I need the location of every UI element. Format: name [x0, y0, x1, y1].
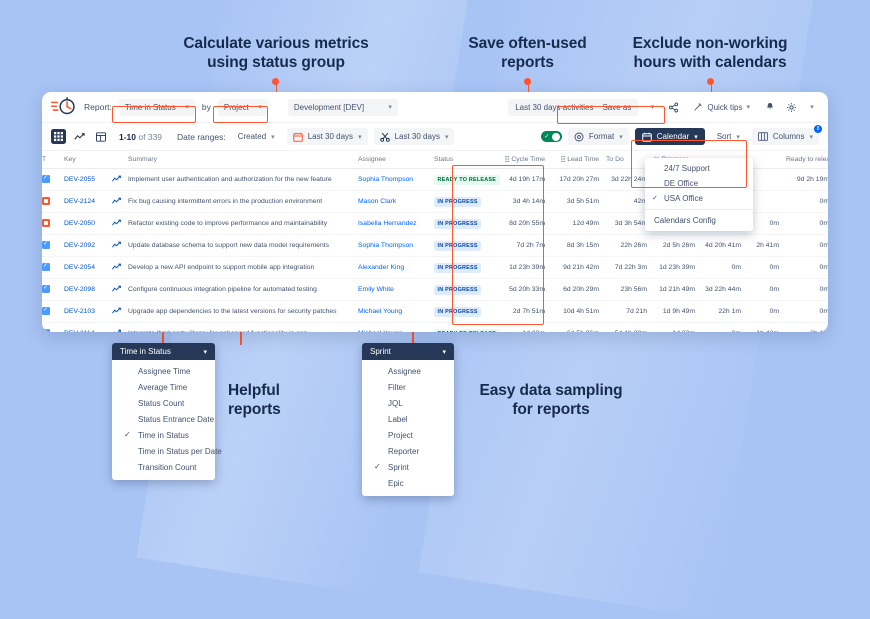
row-ready-to-release: 9d 2h 19m: [786, 169, 828, 191]
report-menu-item-2[interactable]: Status Count: [112, 395, 215, 411]
sprint-menu-item-5[interactable]: Reporter: [362, 443, 454, 459]
app-logo-icon: [51, 97, 77, 117]
row-sparkline-icon[interactable]: [112, 323, 128, 333]
chevron-down-icon: ▾: [185, 103, 189, 111]
table-row[interactable]: DEV-2092Update database schema to suppor…: [42, 235, 828, 257]
issue-type-icon: [42, 175, 50, 183]
row-ready-to-release: 0m: [786, 257, 828, 279]
row-in-progress: 1d 23h 39m: [654, 257, 702, 279]
row-sparkline-icon[interactable]: [112, 235, 128, 257]
chevron-down-icon: ▾: [388, 103, 392, 111]
row-type-checkbox[interactable]: [42, 323, 64, 333]
report-menu-item-1[interactable]: Average Time: [112, 379, 215, 395]
row-cycle-time: 4d 19h 17m: [500, 169, 552, 191]
chart-view-icon[interactable]: [72, 129, 87, 144]
calendar-menu-item-1[interactable]: DE Office: [645, 176, 753, 191]
issue-type-icon: [42, 197, 50, 205]
report-type-menu-title: Time in Status: [120, 347, 171, 356]
row-summary[interactable]: Implement user authentication and author…: [128, 169, 358, 191]
sort-icon: [561, 156, 566, 162]
row-lead-time: 9d 21h 42m: [552, 257, 606, 279]
row-todo: 22h 26m: [606, 235, 654, 257]
row-sparkline-icon[interactable]: [112, 279, 128, 301]
sampling-menu[interactable]: Sprint ▾ AssigneeFilterJQLLabelProjectRe…: [362, 343, 454, 496]
sprint-menu-item-6[interactable]: ✓Sprint: [362, 459, 454, 475]
col-summary[interactable]: Summary: [128, 151, 358, 169]
date-range-2-select[interactable]: Last 30 days ▾: [374, 128, 455, 145]
calendar-icon: [642, 132, 652, 142]
scissors-icon: [380, 132, 390, 142]
working-hours-toggle[interactable]: ✓: [541, 131, 562, 142]
date-field-value: Created: [238, 132, 266, 141]
board-view-icon[interactable]: [93, 129, 108, 144]
check-icon: ✓: [652, 194, 658, 202]
result-count-total: of 339: [138, 132, 162, 142]
by-label: by: [202, 102, 211, 112]
sprint-menu-item-3[interactable]: Label: [362, 411, 454, 427]
row-lead-time: 10d 4h 51m: [552, 301, 606, 323]
calendar-dropdown-menu[interactable]: 24/7 Support DE Office ✓ USA Office Cale…: [645, 158, 753, 231]
sprint-menu-item-0[interactable]: Assignee: [362, 363, 454, 379]
row-summary[interactable]: Configure continuous integration pipelin…: [128, 279, 358, 301]
row-todo: 23h 56m: [606, 279, 654, 301]
chevron-down-icon: ▾: [358, 133, 362, 141]
chevron-down-icon: ▾: [258, 103, 262, 111]
row-assignee[interactable]: Sophia Thompson: [358, 169, 434, 191]
row-assignee[interactable]: Emily White: [358, 279, 434, 301]
row-hidden-2: [748, 169, 786, 191]
calendar-menu-item-0[interactable]: 24/7 Support: [645, 161, 753, 176]
col-spark: [112, 151, 128, 169]
row-assignee[interactable]: Michael Young: [358, 301, 434, 323]
project-value: Development [DEV]: [294, 103, 364, 112]
row-lead-time: 12d 49m: [552, 213, 606, 235]
row-status: IN PROGRESS: [434, 213, 500, 235]
chevron-down-icon: ▾: [445, 133, 449, 141]
save-as-button[interactable]: Save as: [602, 103, 631, 112]
row-lead-time: 8d 3h 15m: [552, 235, 606, 257]
row-lead-time: 17d 20h 27m: [552, 169, 606, 191]
report-type-value: Time in Status: [125, 103, 176, 112]
sort-icon: [505, 156, 510, 162]
sprint-menu-item-7[interactable]: Epic: [362, 475, 454, 491]
sampling-menu-header[interactable]: Sprint ▾: [362, 343, 454, 360]
saved-filter-caret[interactable]: ▾: [645, 99, 659, 116]
sprint-menu-item-4[interactable]: Project: [362, 427, 454, 443]
row-hidden-2: 2h 41m: [748, 235, 786, 257]
row-key[interactable]: DEV-2114: [64, 323, 112, 333]
saved-filter-chip[interactable]: Last 30 days activities Save as: [508, 99, 638, 116]
row-lead-time: 3d 5h 51m: [552, 191, 606, 213]
bell-icon[interactable]: [763, 99, 777, 116]
chevron-down-icon: ▾: [271, 133, 275, 141]
row-hidden-2: 0m: [748, 301, 786, 323]
col-lead-time[interactable]: Lead Time: [552, 151, 606, 169]
sprint-menu-item-1[interactable]: Filter: [362, 379, 454, 395]
grid-view-icon[interactable]: [51, 129, 66, 144]
chevron-down-icon: ▾: [809, 133, 813, 141]
chevron-down-icon: ▾: [619, 133, 623, 141]
calendar-menu-item-2[interactable]: ✓ USA Office: [645, 191, 753, 206]
row-hidden-2: 0m: [748, 257, 786, 279]
row-sparkline-icon[interactable]: [112, 301, 128, 323]
chevron-down-icon: ▾: [736, 133, 740, 141]
report-menu-item-3[interactable]: Status Entrance Date: [112, 411, 215, 427]
row-key[interactable]: DEV-2098: [64, 279, 112, 301]
row-ready-to-release: 0m: [786, 191, 828, 213]
report-menu-item-4[interactable]: ✓Time in Status: [112, 427, 215, 443]
row-hidden-1: 0m: [702, 257, 748, 279]
date-ranges-label: Date ranges:: [177, 132, 226, 142]
caption-easy-sampling: Easy data sampling for reports: [466, 381, 636, 419]
report-menu-item-5[interactable]: Time in Status per Date: [112, 443, 215, 459]
columns-label: Columns: [773, 132, 805, 141]
result-count-range: 1-10: [119, 132, 136, 142]
row-status: IN PROGRESS: [434, 257, 500, 279]
calendar-icon: [293, 132, 303, 142]
caption-exclude-hours: Exclude non-working hours with calendars: [614, 34, 806, 72]
row-type-checkbox[interactable]: [42, 279, 64, 301]
col-status[interactable]: Status: [434, 151, 500, 169]
row-lead-time: 6d 20h 29m: [552, 279, 606, 301]
format-button[interactable]: Format ▾: [568, 128, 629, 145]
row-type-checkbox[interactable]: [42, 213, 64, 235]
chevron-down-icon: ▾: [694, 133, 698, 141]
row-todo: 5d 1h 28m: [606, 323, 654, 333]
row-hidden-2: 0m: [748, 213, 786, 235]
date-range-2-value: Last 30 days: [395, 132, 440, 141]
row-ready-to-release: 0m: [786, 213, 828, 235]
col-key[interactable]: Key: [64, 151, 112, 169]
group-by-select[interactable]: Project ▾: [218, 99, 268, 116]
row-status: IN PROGRESS: [434, 235, 500, 257]
row-in-progress: 2d 5h 26m: [654, 235, 702, 257]
chevron-down-icon: ▾: [203, 348, 207, 356]
row-todo: 7d 22h 3m: [606, 257, 654, 279]
row-cycle-time: 7d 2h 7m: [500, 235, 552, 257]
row-key[interactable]: DEV-2103: [64, 301, 112, 323]
row-key[interactable]: DEV-2092: [64, 235, 112, 257]
row-hidden-2: 0m: [748, 279, 786, 301]
report-type-menu-header[interactable]: Time in Status ▾: [112, 343, 215, 360]
report-type-menu[interactable]: Time in Status ▾ Assignee TimeAverage Ti…: [112, 343, 215, 480]
result-count: 1-10 of 339: [119, 132, 162, 142]
columns-badge: 8: [814, 125, 822, 133]
magic-wand-icon: [693, 102, 703, 112]
row-status: READY TO RELEASE: [434, 323, 500, 333]
row-hidden-1: 4d 20h 41m: [702, 235, 748, 257]
toolbar-primary: Report: Time in Status ▾ by Project ▾ De…: [42, 92, 828, 123]
row-in-progress: 1d 21h 49m: [654, 279, 702, 301]
row-hidden-2: 1h 42m: [748, 323, 786, 333]
row-hidden-1: 3d 22h 44m: [702, 279, 748, 301]
row-summary[interactable]: Develop a new API endpoint to support mo…: [128, 257, 358, 279]
row-cycle-time: 5d 20h 33m: [500, 279, 552, 301]
toggle-check-icon: ✓: [544, 134, 549, 140]
toolbar-secondary: 1-10 of 339 Date ranges: Created ▾ Last …: [42, 123, 828, 151]
row-lead-time: 6d 5h 36m: [552, 323, 606, 333]
issue-type-icon: [42, 219, 50, 227]
col-ready-to-release[interactable]: Ready to release: [786, 151, 828, 169]
row-assignee[interactable]: Alexander King: [358, 257, 434, 279]
row-type-checkbox[interactable]: [42, 169, 64, 191]
row-sparkline-icon[interactable]: [112, 213, 128, 235]
caption-calculate-metrics: Calculate various metrics using status g…: [178, 34, 374, 72]
row-cycle-time: 2d 7h 51m: [500, 301, 552, 323]
row-type-checkbox[interactable]: [42, 301, 64, 323]
chevron-down-icon: ▾: [746, 103, 750, 111]
row-todo: 7d 21h: [606, 301, 654, 323]
sort-button[interactable]: Sort ▾: [711, 128, 746, 145]
row-summary[interactable]: Fix bug causing intermittent errors in t…: [128, 191, 358, 213]
check-icon: ✓: [374, 462, 381, 471]
row-cycle-time: 8d 20h 55m: [500, 213, 552, 235]
row-ready-to-release: 0m: [786, 235, 828, 257]
sampling-menu-title: Sprint: [370, 347, 391, 356]
col-type[interactable]: T: [42, 151, 64, 169]
row-summary[interactable]: Integrate third-party library for enhanc…: [128, 323, 358, 333]
settings-caret[interactable]: ▾: [805, 99, 819, 116]
date-field-select[interactable]: Created ▾: [232, 128, 281, 145]
format-label: Format: [589, 132, 614, 141]
row-assignee[interactable]: Mason Clark: [358, 191, 434, 213]
row-assignee[interactable]: Isabella Hernandez: [358, 213, 434, 235]
row-key[interactable]: DEV-2050: [64, 213, 112, 235]
row-assignee[interactable]: Sophia Thompson: [358, 235, 434, 257]
table-row[interactable]: DEV-2103Upgrade app dependencies to the …: [42, 301, 828, 323]
columns-button[interactable]: Columns ▾ 8: [752, 128, 819, 145]
group-by-value: Project: [224, 103, 249, 112]
report-menu-item-0[interactable]: Assignee Time: [112, 363, 215, 379]
check-icon: ✓: [124, 430, 131, 439]
report-type-menu-items: Assignee TimeAverage TimeStatus CountSta…: [112, 360, 215, 480]
row-hidden-1: 22h 1m: [702, 301, 748, 323]
row-summary[interactable]: Refactor existing code to improve perfor…: [128, 213, 358, 235]
col-cycle-time[interactable]: Cycle Time: [500, 151, 552, 169]
gear-icon[interactable]: [784, 99, 798, 116]
date-range-1-value: Last 30 days: [308, 132, 353, 141]
row-ready-to-release: 0m: [786, 279, 828, 301]
report-menu-item-6[interactable]: Transition Count: [112, 459, 215, 475]
row-hidden-1: 0m: [702, 323, 748, 333]
row-cycle-time: 1d 23m: [500, 323, 552, 333]
row-summary[interactable]: Update database schema to support new da…: [128, 235, 358, 257]
quick-tips-button[interactable]: Quick tips ▾: [687, 99, 756, 116]
calendar-button[interactable]: Calendar ▾: [635, 128, 705, 145]
row-in-progress: 1d 23m: [654, 323, 702, 333]
report-label: Report:: [84, 102, 112, 112]
row-in-progress: 1d 9h 49m: [654, 301, 702, 323]
quick-tips-label: Quick tips: [707, 103, 742, 112]
share-icon[interactable]: [666, 99, 680, 116]
row-type-checkbox[interactable]: [42, 235, 64, 257]
row-cycle-time: 3d 4h 14m: [500, 191, 552, 213]
row-type-checkbox[interactable]: [42, 257, 64, 279]
row-ready-to-release: 0m: [786, 301, 828, 323]
date-range-1-select[interactable]: Last 30 days ▾: [287, 128, 368, 145]
row-sparkline-icon[interactable]: [112, 257, 128, 279]
table-row[interactable]: DEV-2054Develop a new API endpoint to su…: [42, 257, 828, 279]
row-cycle-time: 1d 23h 39m: [500, 257, 552, 279]
calendar-label: Calendar: [657, 132, 689, 141]
row-status: IN PROGRESS: [434, 301, 500, 323]
row-key[interactable]: DEV-2124: [64, 191, 112, 213]
row-key[interactable]: DEV-2055: [64, 169, 112, 191]
col-assignee[interactable]: Assignee: [358, 151, 434, 169]
sprint-menu-item-2[interactable]: JQL: [362, 395, 454, 411]
project-select[interactable]: Development [DEV] ▾: [288, 99, 398, 116]
row-ready-to-release: 2h 1m: [786, 323, 828, 333]
row-hidden-2: [748, 191, 786, 213]
issue-type-icon: [42, 241, 50, 249]
saved-filter-name: Last 30 days activities: [515, 103, 593, 112]
chevron-down-icon: ▾: [442, 348, 446, 356]
row-sparkline-icon[interactable]: [112, 191, 128, 213]
issue-type-icon: [42, 307, 50, 315]
row-status: IN PROGRESS: [434, 279, 500, 301]
sampling-menu-items: AssigneeFilterJQLLabelProjectReporter✓Sp…: [362, 360, 454, 496]
sort-label: Sort: [717, 132, 732, 141]
calendars-config-item[interactable]: Calendars Config: [645, 213, 753, 228]
report-type-select[interactable]: Time in Status ▾: [119, 99, 195, 116]
issue-type-icon: [42, 285, 50, 293]
row-type-checkbox[interactable]: [42, 191, 64, 213]
row-status: READY TO RELEASE: [434, 169, 500, 191]
issue-type-icon: [42, 263, 50, 271]
row-sparkline-icon[interactable]: [112, 169, 128, 191]
menu-divider: [645, 209, 753, 210]
issue-type-icon: [42, 329, 50, 333]
format-icon: [574, 132, 584, 142]
caption-save-reports: Save often-used reports: [440, 34, 615, 72]
row-key[interactable]: DEV-2054: [64, 257, 112, 279]
columns-icon: [758, 132, 768, 141]
caption-helpful-reports: Helpful reports: [228, 381, 320, 419]
row-status: IN PROGRESS: [434, 191, 500, 213]
row-summary[interactable]: Upgrade app dependencies to the latest v…: [128, 301, 358, 323]
table-row[interactable]: DEV-2098Configure continuous integration…: [42, 279, 828, 301]
table-row[interactable]: DEV-2114Integrate third-party library fo…: [42, 323, 828, 333]
col-hidden-2[interactable]: [748, 151, 786, 169]
row-assignee[interactable]: Michael Young: [358, 323, 434, 333]
